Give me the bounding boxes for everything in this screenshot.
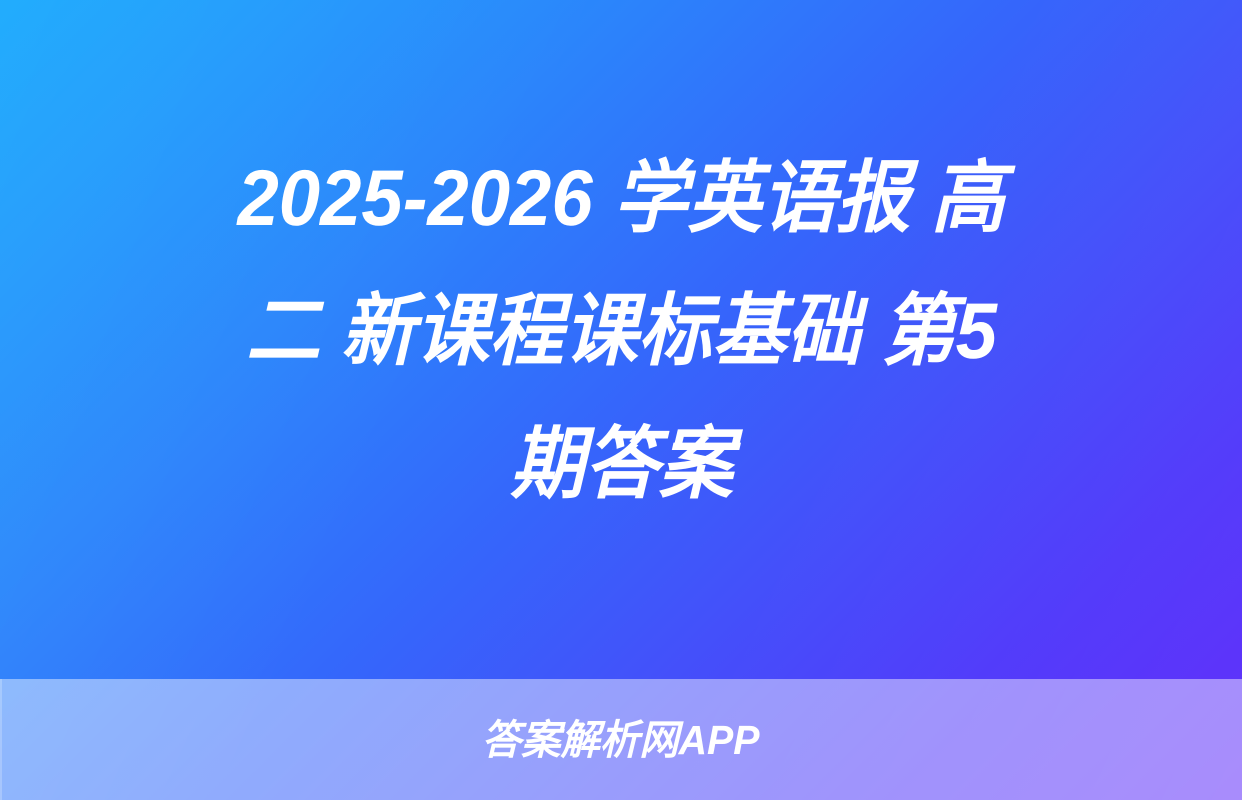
answer-card: 2025-2026 学英语报 高 二 新课程课标基础 第5 期答案 答案解析网A… bbox=[0, 0, 1242, 800]
page-title-line-1: 2025-2026 学英语报 高 bbox=[237, 131, 1005, 264]
footer-brand-band: 答案解析网APP bbox=[0, 679, 1242, 800]
page-title-line-2: 二 新课程课标基础 第5 bbox=[246, 264, 997, 397]
app-brand-label: 答案解析网APP bbox=[482, 717, 760, 763]
page-title: 2025-2026 学英语报 高 二 新课程课标基础 第5 期答案 bbox=[0, 0, 1242, 679]
page-title-line-3: 期答案 bbox=[510, 397, 733, 530]
